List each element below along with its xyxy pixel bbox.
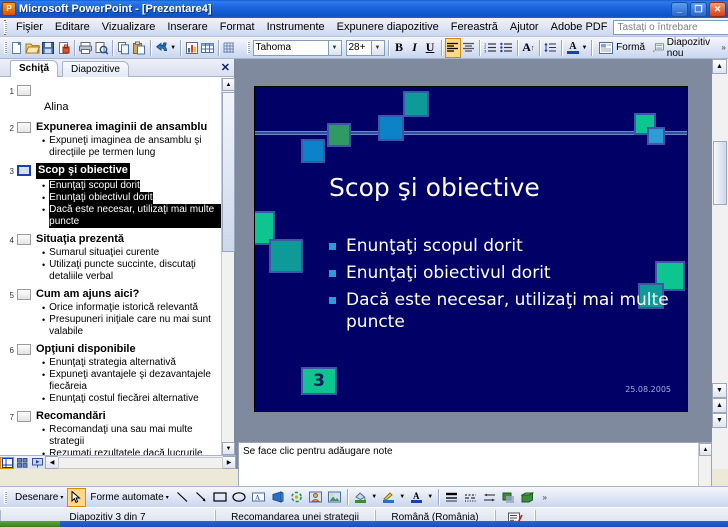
slide-show-button[interactable] — [30, 457, 44, 469]
arrow-style-button[interactable] — [480, 488, 499, 507]
outline-bullet-text: Presupuneri iniţiale care nu mai sunt va… — [49, 314, 222, 338]
rectangle-tool-button[interactable] — [211, 488, 230, 507]
outline-slide-icon[interactable] — [17, 411, 31, 422]
outline-slide-number: 6 — [4, 342, 14, 355]
next-slide-button[interactable]: ▼ — [712, 413, 727, 428]
scroll-up-icon[interactable]: ▲ — [712, 59, 727, 74]
hscroll-track[interactable] — [58, 457, 223, 469]
toolbar-separator — [441, 40, 442, 56]
toolbar-separator — [347, 489, 348, 505]
outline-slide-number: 7 — [4, 409, 14, 422]
bullet-dot-icon: • — [42, 259, 45, 271]
outline-bullet-text: Enunţaţi strategia alternativă — [49, 357, 176, 369]
scroll-right-icon[interactable]: ▶ — [223, 456, 236, 469]
standard-toolbar: ▼ Tahoma ▼ 28+ ▼ B I U — [0, 37, 728, 59]
outline-bullet[interactable]: • Presupuneri iniţiale care nu mai sunt … — [42, 314, 222, 338]
drawing-font-color-button[interactable]: A — [407, 488, 426, 507]
menu-bar: Fişier Editare Vizualizare Inserare Form… — [0, 18, 728, 37]
bullet-dot-icon: • — [42, 424, 45, 436]
menu-item-vizualizare[interactable]: Vizualizare — [96, 19, 162, 35]
copy-icon[interactable] — [116, 38, 132, 58]
line-color-button[interactable] — [379, 488, 398, 507]
decorative-square — [647, 127, 665, 145]
slide-bullet-item: Enunţaţi scopul dorit — [329, 235, 674, 257]
outline-slide-title[interactable]: Recomandări — [36, 409, 106, 423]
outline-slide-row[interactable]: 1 — [4, 83, 222, 96]
outline-bullet[interactable]: • Enunţaţi strategia alternativă — [42, 357, 222, 369]
outline-slide-number: 5 — [4, 287, 14, 300]
outline-content[interactable]: 1 Alina 2 Expunerea imaginii de ansamblu… — [0, 78, 234, 455]
outline-bullet-text: Dacă este necesar, utilizaţi mai multe p… — [49, 204, 222, 228]
window-controls: _ ❐ ✕ — [671, 2, 728, 17]
bullet-dot-icon: • — [42, 369, 45, 381]
shadow-style-button[interactable] — [499, 488, 518, 507]
slide-bullet-item: Enunţaţi obiectivul dorit — [329, 262, 674, 284]
clip-art-tool-button[interactable] — [306, 488, 325, 507]
outline-slide-number: 2 — [4, 120, 14, 133]
outline-slide-row-selected[interactable]: 3 Scop şi obiective — [4, 163, 222, 179]
bullet-dot-icon: • — [42, 448, 45, 455]
window-title: Microsoft PowerPoint - [Prezentare4] — [19, 3, 671, 15]
outline-slide-title[interactable]: Opţiuni disponibile — [36, 342, 136, 356]
menu-item-ajutor[interactable]: Ajutor — [504, 19, 545, 35]
undo-icon[interactable] — [154, 38, 170, 58]
decorative-square — [327, 123, 351, 147]
outline-slide-row[interactable]: 6 Opţiuni disponibile — [4, 342, 222, 356]
tab-slides[interactable]: Diapozitive — [62, 61, 129, 77]
close-button[interactable]: ✕ — [709, 2, 726, 17]
outline-bullet[interactable]: • Expuneţi avantajele şi dezavantajele f… — [42, 369, 222, 393]
toolbar-separator — [561, 40, 562, 56]
paste-icon[interactable] — [131, 38, 147, 58]
menu-item-expunere-diapozitive[interactable]: Expunere diapozitive — [331, 19, 445, 35]
work-area: Schiţă Diapozitive ✕ 1 Alina 2 Expunerea… — [0, 59, 728, 469]
outline-slide-subtitle[interactable]: Alina — [44, 97, 222, 120]
menu-item-instrumente[interactable]: Instrumente — [261, 19, 331, 35]
bold-button[interactable]: B — [391, 38, 407, 58]
toolbar-separator — [479, 40, 480, 56]
slide-bullet-text: Dacă este necesar, utilizaţi mai multe p… — [346, 289, 674, 333]
outline-bullet-text: Sumarul situaţiei curente — [49, 247, 159, 259]
outline-horizontal-scrollbar[interactable]: ◀ ▶ — [45, 457, 236, 469]
pane-tab-strip: Schiţă Diapozitive ✕ — [0, 59, 234, 77]
bullet-dot-icon: • — [42, 393, 45, 405]
slide-bullet-text: Enunţaţi scopul dorit — [346, 235, 523, 257]
outline-bullet[interactable]: • Enunţaţi costul fiecărei alternative — [42, 393, 222, 405]
slide-bullet-item: Dacă este necesar, utilizaţi mai multe p… — [329, 289, 674, 333]
powerpoint-icon: P — [2, 2, 16, 16]
bullet-dot-icon: • — [42, 135, 45, 147]
outline-scroll-thumb[interactable] — [222, 92, 235, 252]
toolbar-separator — [388, 40, 389, 56]
outline-slide-icon[interactable] — [17, 234, 31, 245]
bullet-square-icon — [329, 243, 336, 250]
slide-canvas[interactable]: Scop şi obiective Enunţaţi scopul dorit … — [254, 86, 688, 412]
svg-text:A: A — [255, 494, 260, 502]
slide-date: 25.08.2005 — [625, 385, 671, 394]
toolbar-separator — [112, 40, 113, 56]
slide-number-badge: 3 — [301, 367, 337, 395]
close-pane-icon[interactable]: ✕ — [221, 61, 230, 74]
outline-slide-number: 3 — [4, 163, 14, 176]
formatting-toolbar-grip[interactable] — [245, 40, 250, 55]
open-folder-icon[interactable] — [25, 38, 41, 58]
decorative-square — [269, 239, 303, 273]
new-slide-button[interactable]: Diapozitiv nou — [649, 38, 719, 58]
diagram-tool-button[interactable] — [287, 488, 306, 507]
toolbar-separator — [517, 40, 518, 56]
chevron-down-icon[interactable]: ▼ — [329, 40, 342, 56]
slide-pane-vertical-scrollbar[interactable]: ▲ ▼ ▲ ▼ — [712, 59, 728, 469]
slide-title-text[interactable]: Scop şi obiective — [329, 173, 540, 202]
outline-bullet[interactable]: • Utilizaţi puncte succinte, discutaţi d… — [42, 259, 222, 283]
outline-slide-title[interactable]: Cum am ajuns aici? — [36, 287, 139, 301]
outline-bullet[interactable]: • Enunţaţi obiectivul dorit — [42, 192, 222, 204]
outline-bullet-text: Recomandaţi una sau mai multe strategii — [49, 424, 222, 448]
line-color-dropdown-icon[interactable]: ▼ — [398, 488, 407, 507]
restore-button[interactable]: ❐ — [690, 2, 707, 17]
outline-bullet-text: Enunţaţi scopul dorit — [49, 180, 140, 192]
view-buttons-bar: ◀ ▶ — [0, 455, 236, 469]
chevron-down-icon: ▾ — [166, 494, 169, 501]
select-objects-button[interactable] — [67, 488, 86, 507]
font-color-letter: A — [569, 42, 576, 51]
outline-bullet-text: Orice informaţie istorică relevantă — [49, 302, 198, 314]
outline-bullet[interactable]: • Orice informaţie istorică relevantă — [42, 302, 222, 314]
outline-slide-row[interactable]: 4 Situaţia prezentă — [4, 232, 222, 246]
line-tool-button[interactable] — [173, 488, 192, 507]
font-size-combo[interactable]: 28+ ▼ — [346, 40, 385, 56]
bullet-dot-icon: • — [42, 302, 45, 314]
notes-placeholder-text[interactable]: Se face clic pentru adăugare note — [239, 443, 711, 460]
arrow-tool-button[interactable] — [192, 488, 211, 507]
toolbar-separator — [539, 40, 540, 56]
font-color-swatch — [567, 51, 579, 54]
outline-bullet[interactable]: • Recomandaţi una sau mai multe strategi… — [42, 424, 222, 448]
outline-slide-icon[interactable] — [17, 289, 31, 300]
bullets-button[interactable] — [498, 38, 514, 58]
scroll-down-icon[interactable]: ▼ — [712, 383, 727, 398]
outline-bullet-text: Enunţaţi obiectivul dorit — [49, 192, 152, 204]
previous-slide-button[interactable]: ▲ — [712, 398, 727, 413]
menu-item-editare[interactable]: Editare — [49, 19, 96, 35]
draw-menu-label: Desenare — [15, 492, 58, 503]
outline-bullet-text: Rezumaţi rezultatele dacă lucrurile merg… — [49, 448, 222, 455]
outline-slide-icon[interactable] — [17, 344, 31, 355]
save-icon[interactable] — [40, 38, 56, 58]
outline-bullet-text: Utilizaţi puncte succinte, discutaţi det… — [49, 259, 222, 283]
drawing-overflow-label: » — [543, 493, 547, 502]
toolbar-separator — [218, 40, 219, 56]
font-color-button[interactable]: A — [565, 38, 581, 58]
increase-font-size-button[interactable]: A↑ — [521, 38, 537, 58]
title-bar: P Microsoft PowerPoint - [Prezentare4] _… — [0, 0, 728, 18]
scroll-down-icon[interactable]: ▼ — [222, 442, 235, 455]
standard-toolbar-grip[interactable] — [2, 40, 7, 55]
new-icon[interactable] — [9, 38, 25, 58]
menu-item-inserare[interactable]: Inserare — [161, 19, 213, 35]
drawing-toolbar-overflow-button[interactable]: » — [539, 487, 551, 507]
fill-color-button[interactable] — [351, 488, 370, 507]
taskbar — [0, 521, 728, 527]
outline-slide-number: 1 — [4, 83, 14, 96]
start-button[interactable] — [0, 521, 60, 527]
chart-icon[interactable] — [184, 38, 200, 58]
font-color-letter: A — [413, 492, 420, 500]
bullet-dot-icon: • — [42, 357, 45, 369]
slide-pane: Scop şi obiective Enunţaţi scopul dorit … — [238, 59, 712, 440]
outline-slide-row[interactable]: 7 Recomandări — [4, 409, 222, 423]
slide-sorter-button[interactable] — [15, 457, 29, 469]
drawing-toolbar-grip[interactable] — [2, 490, 9, 505]
minimize-button[interactable]: _ — [671, 2, 688, 17]
slide-design-button[interactable]: Formă — [595, 38, 649, 58]
undo-dropdown-icon[interactable]: ▼ — [169, 38, 177, 58]
bullet-square-icon — [329, 270, 336, 277]
drawing-font-color-swatch — [411, 500, 422, 503]
insert-picture-tool-button[interactable] — [325, 488, 344, 507]
line-color-swatch — [383, 500, 394, 503]
menu-item-fereastra[interactable]: Fereastră — [445, 19, 504, 35]
new-slide-label: Diapozitiv nou — [667, 37, 715, 59]
slide-scroll-thumb[interactable] — [713, 141, 727, 205]
toolbar-overflow-button[interactable]: » — [719, 38, 728, 58]
print-icon[interactable] — [78, 38, 94, 58]
menu-item-fisier[interactable]: Fişier — [10, 19, 49, 35]
bullet-dot-icon: • — [42, 192, 45, 204]
bullet-dot-icon: • — [42, 204, 45, 216]
bullet-square-icon — [329, 297, 336, 304]
font-name-value[interactable]: Tahoma — [253, 40, 329, 56]
outline-pane: Schiţă Diapozitive ✕ 1 Alina 2 Expunerea… — [0, 59, 236, 469]
ask-a-question-box: Tastaţi o întrebare ▼ ✕ — [613, 20, 728, 35]
outline-slide-row[interactable]: 2 Expunerea imaginii de ansamblu — [4, 120, 222, 134]
outline-slide-title[interactable]: Expunerea imaginii de ansamblu — [36, 120, 207, 134]
powerpoint-window: P Microsoft PowerPoint - [Prezentare4] _… — [0, 0, 728, 527]
scroll-up-icon[interactable]: ▲ — [699, 443, 712, 456]
toolbar-separator — [150, 40, 151, 56]
draw-menu-button[interactable]: Desenare ▾ — [11, 492, 67, 503]
oval-tool-button[interactable] — [230, 488, 249, 507]
chevron-down-icon[interactable]: ▼ — [372, 40, 385, 56]
line-spacing-button[interactable] — [543, 38, 559, 58]
decorative-square — [403, 91, 429, 117]
toolbar-separator — [74, 40, 75, 56]
dash-style-button[interactable] — [461, 488, 480, 507]
table-icon[interactable] — [199, 38, 215, 58]
3d-style-button[interactable] — [518, 488, 537, 507]
font-size-value[interactable]: 28+ — [346, 40, 372, 56]
outline-bullet[interactable]: • Expuneţi imaginea de ansamblu şi direc… — [42, 135, 222, 159]
slide-design-label: Formă — [616, 42, 645, 53]
outline-slide-icon[interactable] — [17, 85, 31, 96]
autoshapes-menu-button[interactable]: Forme automate ▾ — [86, 492, 172, 503]
chevron-down-icon: ▾ — [60, 494, 63, 501]
text-box-tool-button[interactable]: A — [249, 488, 268, 507]
menu-item-adobe-pdf[interactable]: Adobe PDF — [545, 19, 614, 35]
align-left-button[interactable] — [445, 38, 461, 58]
bullet-dot-icon: • — [42, 180, 45, 192]
toolbar-separator — [180, 40, 181, 56]
font-name-combo[interactable]: Tahoma ▼ — [253, 40, 342, 56]
decorative-square — [378, 115, 404, 141]
tab-outline[interactable]: Schiţă — [10, 60, 58, 77]
scroll-left-icon[interactable]: ◀ — [45, 456, 58, 469]
outline-slide-icon[interactable] — [17, 165, 31, 176]
outline-slide-title[interactable]: Situaţia prezentă — [36, 232, 124, 246]
grid-icon[interactable] — [222, 38, 238, 58]
wordart-tool-button[interactable] — [268, 488, 287, 507]
outline-bullet[interactable]: • Rezumaţi rezultatele dacă lucrurile me… — [42, 448, 222, 455]
outline-slide-icon[interactable] — [17, 122, 31, 133]
svg-text:3: 3 — [484, 48, 487, 53]
outline-slide-title[interactable]: Scop şi obiective — [36, 163, 130, 179]
toolbar-separator — [438, 489, 439, 505]
italic-button[interactable]: I — [407, 38, 423, 58]
outline-bullet[interactable]: • Dacă este necesar, utilizaţi mai multe… — [42, 204, 222, 228]
outline-bullet-text: Expuneţi avantajele şi dezavantajele fie… — [49, 369, 222, 393]
autoshapes-label: Forme automate — [90, 492, 163, 503]
decorative-line-full — [255, 131, 688, 135]
line-style-button[interactable] — [442, 488, 461, 507]
outline-slide-number: 4 — [4, 232, 14, 245]
fill-color-swatch — [355, 500, 366, 503]
drawing-font-color-dropdown-icon[interactable]: ▼ — [426, 488, 435, 507]
slide-body-text[interactable]: Enunţaţi scopul dorit Enunţaţi obiectivu… — [329, 235, 674, 338]
drawing-toolbar: Desenare ▾ Forme automate ▾ A — [0, 486, 728, 507]
numbering-button[interactable]: 123 — [483, 38, 499, 58]
font-color-dropdown-icon[interactable]: ▼ — [581, 38, 589, 58]
normal-view-button[interactable] — [0, 457, 14, 469]
decorative-square — [301, 139, 325, 163]
permission-lock-icon[interactable] — [56, 38, 72, 58]
outline-bullet-text: Enunţaţi costul fiecărei alternative — [49, 393, 199, 405]
outline-bullet[interactable]: • Enunţaţi scopul dorit — [42, 180, 222, 192]
underline-button[interactable]: U — [422, 38, 438, 58]
ask-a-question-input[interactable]: Tastaţi o întrebare — [613, 20, 728, 35]
slide-bullet-text: Enunţaţi obiectivul dorit — [346, 262, 551, 284]
toolbar-separator — [591, 40, 592, 56]
scroll-up-icon[interactable]: ▲ — [222, 78, 235, 91]
align-center-button[interactable] — [461, 38, 477, 58]
outline-bullet-text: Expuneţi imaginea de ansamblu şi direcţi… — [49, 135, 222, 159]
bullet-dot-icon: • — [42, 247, 45, 259]
bullet-dot-icon: • — [42, 314, 45, 326]
outline-vertical-scrollbar[interactable]: ▲ ▼ — [221, 78, 234, 455]
outline-slide-row[interactable]: 5 Cum am ajuns aici? — [4, 287, 222, 301]
outline-bullet[interactable]: • Sumarul situaţiei curente — [42, 247, 222, 259]
fill-color-dropdown-icon[interactable]: ▼ — [370, 488, 379, 507]
toolbar-overflow-label: » — [721, 43, 725, 52]
menu-item-format[interactable]: Format — [214, 19, 261, 35]
print-preview-icon[interactable] — [94, 38, 110, 58]
